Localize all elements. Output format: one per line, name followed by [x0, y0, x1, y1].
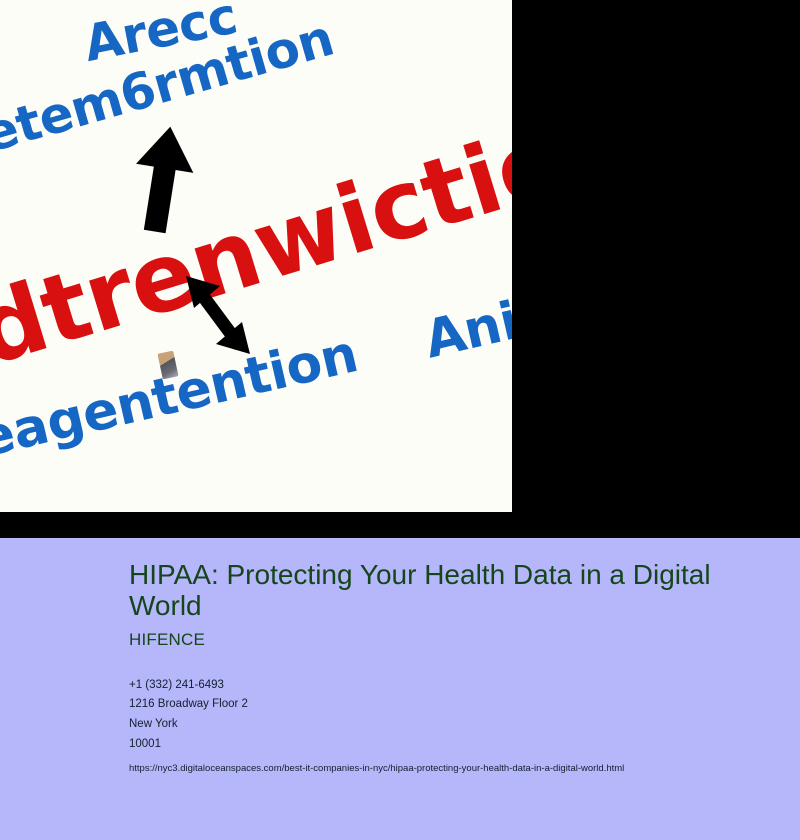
hero-word-ani: Ani [420, 295, 512, 367]
double-headed-arrow-icon [180, 272, 256, 358]
contact-zip: 10001 [129, 735, 760, 755]
info-inner: HIPAA: Protecting Your Health Data in a … [129, 560, 760, 777]
page-title: HIPAA: Protecting Your Health Data in a … [129, 560, 719, 622]
brand-name: HIFENCE [129, 630, 760, 650]
hero-region: Arecc etem6rmtion dtrenwictio eagententi… [0, 0, 800, 538]
contact-street: 1216 Broadway Floor 2 [129, 695, 760, 715]
arrow-up-icon [126, 124, 198, 234]
article-hero-image: Arecc etem6rmtion dtrenwictio eagententi… [0, 0, 512, 512]
source-url[interactable]: https://nyc3.digitaloceanspaces.com/best… [129, 761, 760, 777]
contact-phone: +1 (332) 241-6493 [129, 676, 760, 696]
contact-block: +1 (332) 241-6493 1216 Broadway Floor 2 … [129, 676, 760, 777]
article-info-panel: HIPAA: Protecting Your Health Data in a … [0, 538, 800, 840]
contact-city: New York [129, 715, 760, 735]
